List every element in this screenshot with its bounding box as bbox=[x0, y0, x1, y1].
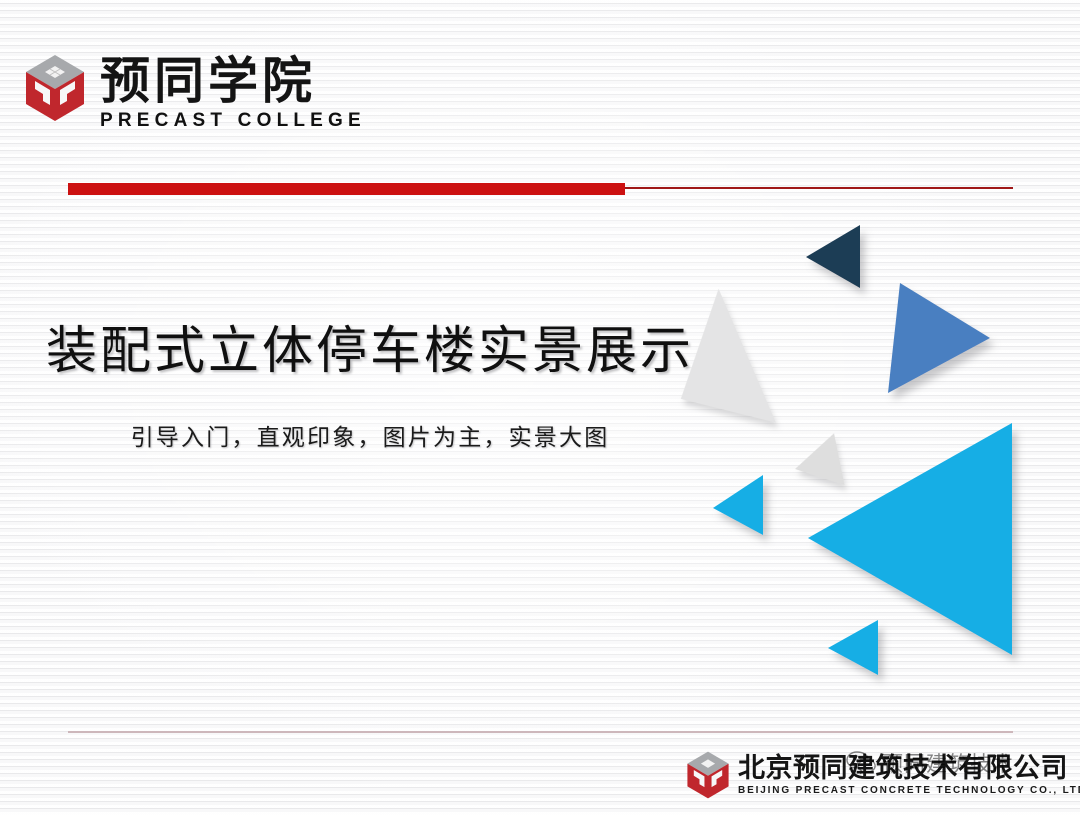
precast-cube-logo-icon bbox=[686, 750, 730, 800]
triangle-cyan-large bbox=[808, 423, 1012, 655]
title-block: 装配式立体停车楼实景展示 引导入门，直观印象，图片为主，实景大图 bbox=[0, 322, 740, 452]
header-brand-wordmark: 预同学院 PRECAST COLLEGE bbox=[100, 53, 366, 132]
header-divider-thick-bar bbox=[68, 183, 625, 195]
brand-name-cn: 预同学院 bbox=[100, 56, 366, 107]
header-divider-thin-line bbox=[625, 187, 1013, 189]
footer-divider bbox=[68, 731, 1013, 733]
triangle-blue-medium bbox=[888, 283, 990, 393]
triangle-cyan-bottom bbox=[828, 620, 878, 675]
wechat-watermark: 预同建筑技术 bbox=[846, 748, 1014, 778]
wechat-icon bbox=[846, 750, 876, 776]
slide-subtitle: 引导入门，直观印象，图片为主，实景大图 bbox=[0, 418, 740, 452]
company-name-en: BEIJING PRECAST CONCRETE TECHNOLOGY CO.,… bbox=[738, 785, 1080, 796]
triangle-navy bbox=[806, 225, 860, 288]
watermark-label: 预同建筑技术 bbox=[882, 748, 1014, 778]
triangle-gray-small bbox=[795, 425, 859, 485]
triangle-cyan-small bbox=[713, 475, 763, 535]
precast-cube-logo-icon bbox=[24, 53, 86, 123]
header-brand-logo: 预同学院 PRECAST COLLEGE bbox=[24, 53, 366, 132]
slide-title: 装配式立体停车楼实景展示 bbox=[0, 322, 740, 382]
header-divider bbox=[68, 183, 1013, 195]
brand-name-en: PRECAST COLLEGE bbox=[100, 110, 366, 132]
presentation-slide: 预同学院 PRECAST COLLEGE 装配式立体停车楼实景展示 引导入门，直… bbox=[0, 0, 1080, 815]
